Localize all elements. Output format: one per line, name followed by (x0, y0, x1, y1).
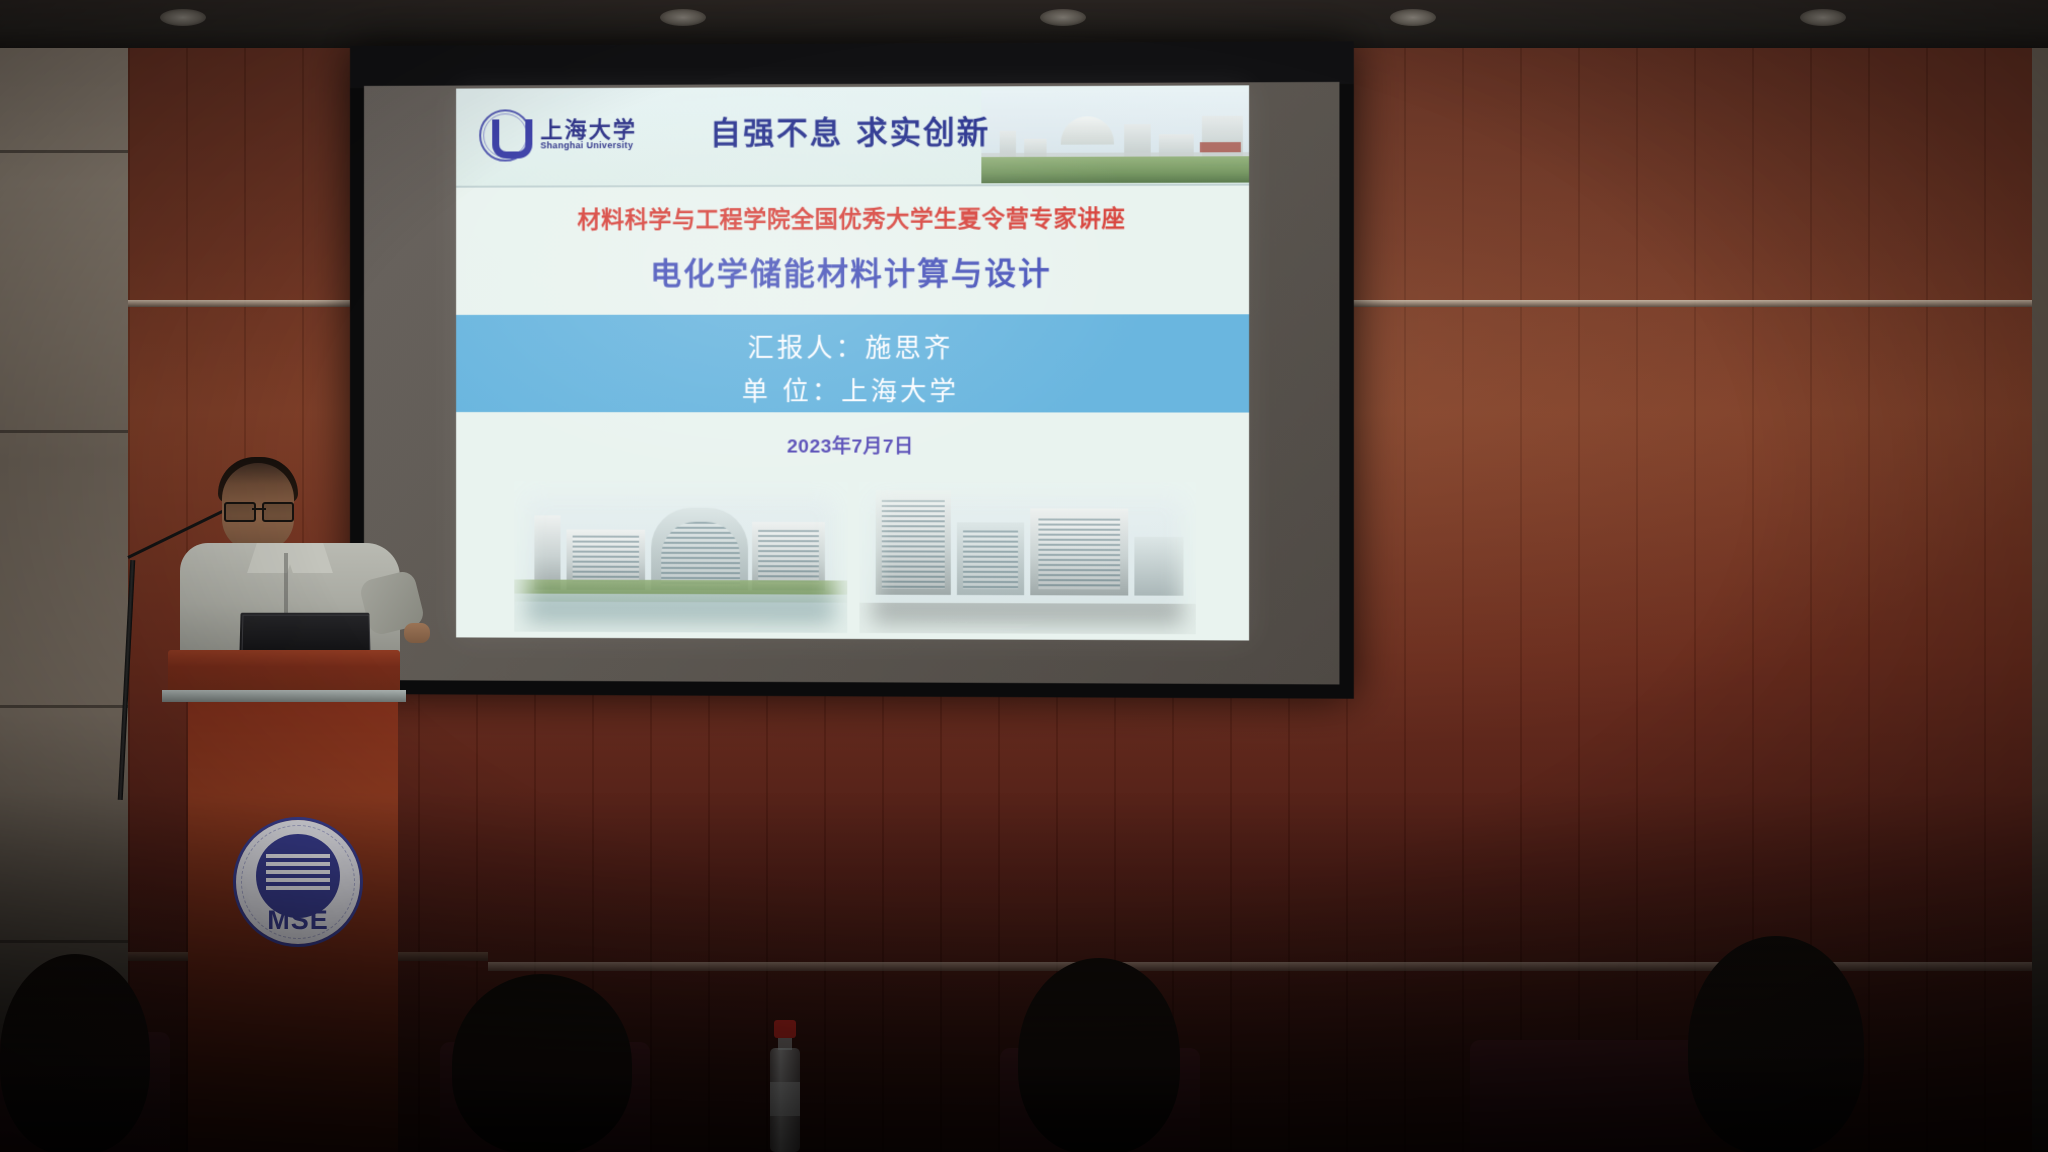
ceiling-light-icon (1800, 9, 1846, 26)
wall-trim-left (128, 300, 350, 307)
campus-building-lakefront-photo (514, 481, 847, 633)
screen-top-bar (350, 41, 1354, 88)
slide-presenter-band: 汇报人：施思齐 单 位：上海大学 (456, 314, 1249, 412)
slide-main-title: 电化学储能材料计算与设计 (456, 247, 1249, 293)
university-name-en: Shanghai University (540, 140, 633, 150)
affiliation-line: 单 位：上海大学 (456, 371, 1249, 408)
slide-photo-row (456, 469, 1249, 640)
presentation-slide: 上海大学 Shanghai University 自强不息 求实创新 材料科学与… (456, 85, 1249, 640)
lower-room-shadow (0, 792, 2048, 1152)
lecture-hall-screenshot: 上海大学 Shanghai University 自强不息 求实创新 材料科学与… (0, 0, 2048, 1152)
laptop-on-podium (239, 613, 370, 654)
presenter-hand (404, 623, 430, 643)
campus-aerial-photo (981, 89, 1249, 183)
projection-screen: 上海大学 Shanghai University 自强不息 求实创新 材料科学与… (350, 41, 1354, 698)
campus-building-modern-photo (859, 482, 1195, 634)
podium-lip (162, 690, 406, 702)
slide-date: 2023年7月7日 (456, 431, 1249, 459)
ceiling (0, 0, 2048, 48)
university-motto: 自强不息 求实创新 (710, 107, 991, 153)
ceiling-light-icon (660, 9, 706, 26)
glasses-icon (224, 502, 294, 518)
wall-trim-right (1340, 300, 2048, 307)
podium-top (168, 650, 400, 692)
shanghai-university-logo (479, 109, 531, 161)
slide-subtitle-red: 材料科学与工程学院全国优秀大学生夏令营专家讲座 (456, 199, 1249, 235)
ceiling-light-icon (1040, 9, 1086, 26)
ceiling-light-icon (1390, 9, 1436, 26)
presenter-line: 汇报人：施思齐 (456, 327, 1249, 365)
ceiling-light-icon (160, 9, 206, 26)
